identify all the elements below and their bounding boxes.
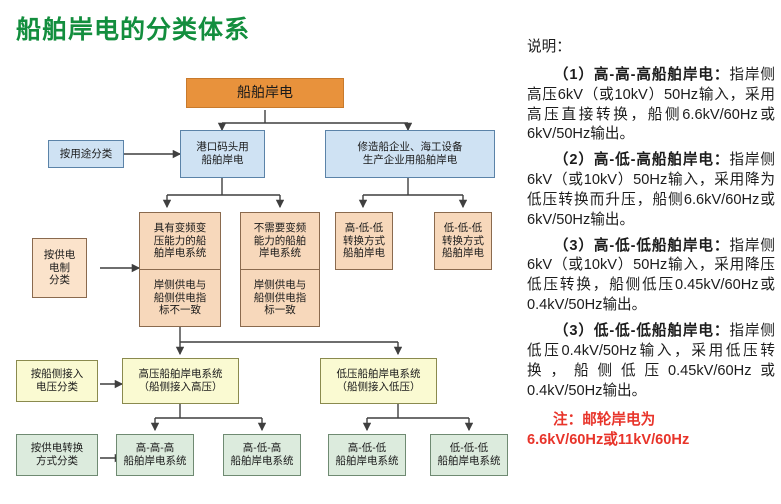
node-shipyard-line1: 修造船企业、海工设备 (358, 141, 463, 154)
node-hll-mode-line2: 转换方式 (343, 235, 385, 248)
explanation-panel: 说明： （1）高-高-高船舶岸电：指岸侧高压6kV（或10kV）50Hz输入，采… (521, 0, 781, 504)
node-hhh-line2: 船舶岸电系统 (124, 455, 187, 468)
node-vfd-capable-top-line3: 舶岸电系统 (154, 247, 207, 260)
node-no-vfd-top-line2: 能力的船舶 (254, 235, 307, 248)
node-hll-mode-line1: 高-低-低 (345, 222, 384, 235)
explanation-heading: 说明： (527, 38, 775, 58)
node-port-terminal[interactable]: 港口码头用 船舶岸电 (180, 130, 265, 178)
node-no-vfd-bottom: 岸侧供电与 船侧供电指 标一致 (241, 270, 319, 326)
explanation-note-lead: 注：邮轮岸电为 (553, 412, 655, 428)
node-port-terminal-line1: 港口码头用 (196, 141, 249, 154)
node-lll[interactable]: 低-低-低 船舶岸电系统 (430, 434, 508, 476)
node-hhh-line1: 高-高-高 (136, 442, 175, 455)
node-lll-mode[interactable]: 低-低-低 转换方式 船舶岸电 (434, 212, 492, 270)
node-lv-system[interactable]: 低压船舶岸电系统 （船侧接入低压） (320, 358, 437, 404)
node-vfd-capable-top: 具有变频变 压能力的船 舶岸电系统 (140, 213, 220, 270)
explanation-item-2-lead: （2）高-低-高船舶岸电： (553, 152, 729, 168)
node-shipyard[interactable]: 修造船企业、海工设备 生产企业用船舶岸电 (325, 130, 495, 178)
node-vfd-capable[interactable]: 具有变频变 压能力的船 舶岸电系统 岸侧供电与 船侧供电指 标不一致 (139, 212, 221, 327)
node-hll-mode-line3: 船舶岸电 (343, 247, 385, 260)
label-by-conversion-line2: 方式分类 (36, 455, 78, 468)
node-hll-line2: 船舶岸电系统 (336, 455, 399, 468)
label-by-conversion-line1: 按供电转换 (31, 442, 84, 455)
node-vfd-capable-bottom-line1: 岸侧供电与 (154, 279, 207, 292)
label-by-ship-voltage-line2: 电压分类 (36, 381, 78, 394)
node-hlh-line1: 高-低-高 (243, 442, 282, 455)
node-vfd-capable-top-line1: 具有变频变 (154, 222, 207, 235)
node-no-vfd[interactable]: 不需要变频 能力的船舶 岸电系统 岸侧供电与 船侧供电指 标一致 (240, 212, 320, 327)
classification-flowchart: 船舶岸电 按用途分类 港口码头用 船舶岸电 修造船企业、海工设备 生产企业用船舶… (0, 0, 520, 504)
label-by-power-system[interactable]: 按供电 电制 分类 (32, 238, 87, 298)
explanation-item-4-lead: （3）低-低-低船舶岸电： (553, 323, 729, 339)
explanation-note-body: 6.6kV/60Hz或11kV/60Hz (527, 432, 689, 448)
node-hll[interactable]: 高-低-低 船舶岸电系统 (328, 434, 406, 476)
node-hlh[interactable]: 高-低-高 船舶岸电系统 (223, 434, 301, 476)
node-vfd-capable-bottom-line2: 船侧供电指 (154, 292, 207, 305)
label-by-power-system-line2: 电制 (49, 262, 70, 275)
node-lll-mode-line3: 船舶岸电 (442, 247, 484, 260)
node-no-vfd-bottom-line3: 标一致 (264, 304, 296, 317)
label-by-use[interactable]: 按用途分类 (48, 140, 124, 168)
node-root-label: 船舶岸电 (237, 84, 293, 101)
node-no-vfd-top-line3: 岸电系统 (259, 247, 301, 260)
label-by-power-system-line3: 分类 (49, 274, 70, 287)
node-no-vfd-bottom-line1: 岸侧供电与 (254, 279, 307, 292)
label-by-ship-voltage-line1: 按船侧接入 (31, 368, 84, 381)
node-hhh[interactable]: 高-高-高 船舶岸电系统 (116, 434, 194, 476)
node-no-vfd-bottom-line2: 船侧供电指 (254, 292, 307, 305)
node-vfd-capable-bottom-line3: 标不一致 (159, 304, 201, 317)
node-lv-system-line2: （船侧接入低压） (337, 381, 421, 394)
label-by-use-line1: 按用途分类 (60, 148, 113, 161)
slide-root: 船舶岸电的分类体系 (0, 0, 781, 504)
explanation-item-1: （1）高-高-高船舶岸电：指岸侧高压6kV（或10kV）50Hz输入，采用高压直… (527, 66, 775, 145)
explanation-item-1-lead: （1）高-高-高船舶岸电： (553, 67, 729, 83)
explanation-item-3: （3）高-低-低船舶岸电：指岸侧6kV（或10kV）50Hz输入，采用降压低压转… (527, 237, 775, 316)
explanation-item-4: （3）低-低-低船舶岸电：指岸侧低压0.4kV/50Hz输入，采用低压转换，船侧… (527, 322, 775, 401)
label-by-conversion[interactable]: 按供电转换 方式分类 (16, 434, 98, 476)
node-no-vfd-top: 不需要变频 能力的船舶 岸电系统 (241, 213, 319, 270)
node-port-terminal-line2: 船舶岸电 (202, 154, 244, 167)
node-root[interactable]: 船舶岸电 (186, 78, 344, 108)
node-shipyard-line2: 生产企业用船舶岸电 (363, 154, 458, 167)
node-hll-line1: 高-低-低 (348, 442, 387, 455)
node-hlh-line2: 船舶岸电系统 (231, 455, 294, 468)
node-lll-mode-line2: 转换方式 (442, 235, 484, 248)
node-hv-system[interactable]: 高压船舶岸电系统 （船侧接入高压） (122, 358, 239, 404)
node-lll-mode-line1: 低-低-低 (444, 222, 483, 235)
node-vfd-capable-top-line2: 压能力的船 (154, 235, 207, 248)
node-hv-system-line1: 高压船舶岸电系统 (139, 368, 223, 381)
node-hll-mode[interactable]: 高-低-低 转换方式 船舶岸电 (335, 212, 393, 270)
node-lv-system-line1: 低压船舶岸电系统 (337, 368, 421, 381)
explanation-item-3-lead: （3）高-低-低船舶岸电： (553, 238, 729, 254)
node-lll-line2: 船舶岸电系统 (438, 455, 501, 468)
explanation-note: 注：邮轮岸电为6.6kV/60Hz或11kV/60Hz (527, 411, 775, 451)
label-by-ship-voltage[interactable]: 按船侧接入 电压分类 (16, 360, 98, 402)
node-hv-system-line2: （船侧接入高压） (139, 381, 223, 394)
node-vfd-capable-bottom: 岸侧供电与 船侧供电指 标不一致 (140, 270, 220, 326)
node-no-vfd-top-line1: 不需要变频 (254, 222, 307, 235)
label-by-power-system-line1: 按供电 (44, 249, 76, 262)
node-lll-line1: 低-低-低 (450, 442, 489, 455)
explanation-item-2: （2）高-低-高船舶岸电：指岸侧6kV（或10kV）50Hz输入，采用降为低压转… (527, 151, 775, 230)
